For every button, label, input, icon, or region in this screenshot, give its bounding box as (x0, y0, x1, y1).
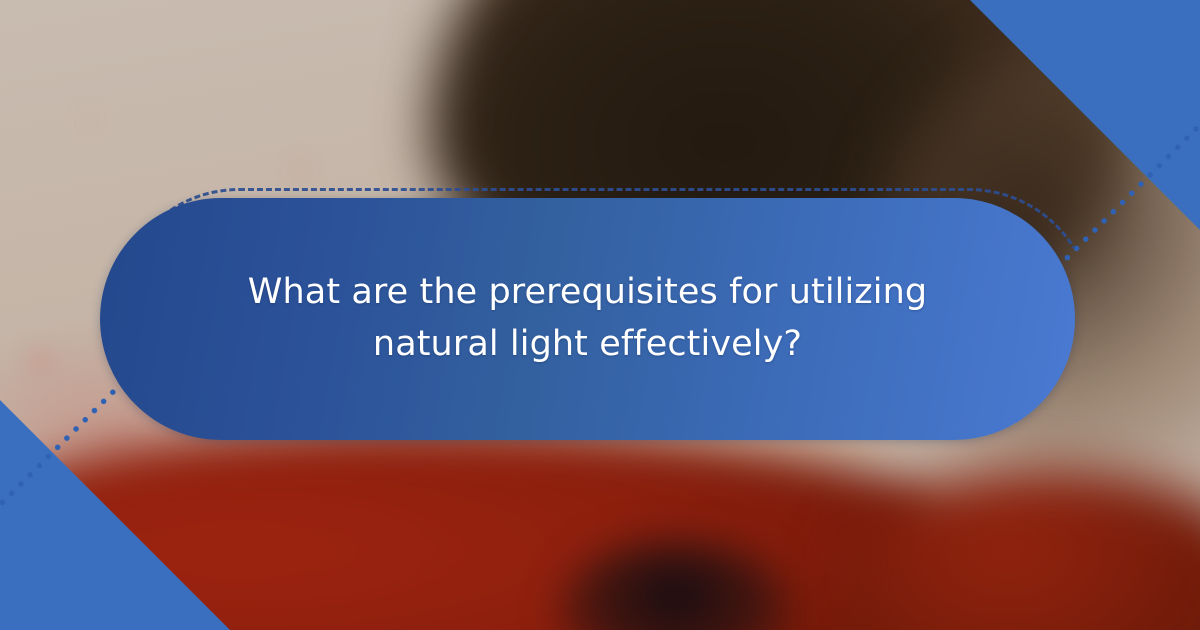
card-body: What are the prerequisites for utilizing… (100, 198, 1075, 440)
question-card: What are the prerequisites for utilizing… (100, 188, 1075, 450)
question-text: What are the prerequisites for utilizing… (238, 267, 938, 371)
question-card-graphic: What are the prerequisites for utilizing… (0, 0, 1200, 630)
